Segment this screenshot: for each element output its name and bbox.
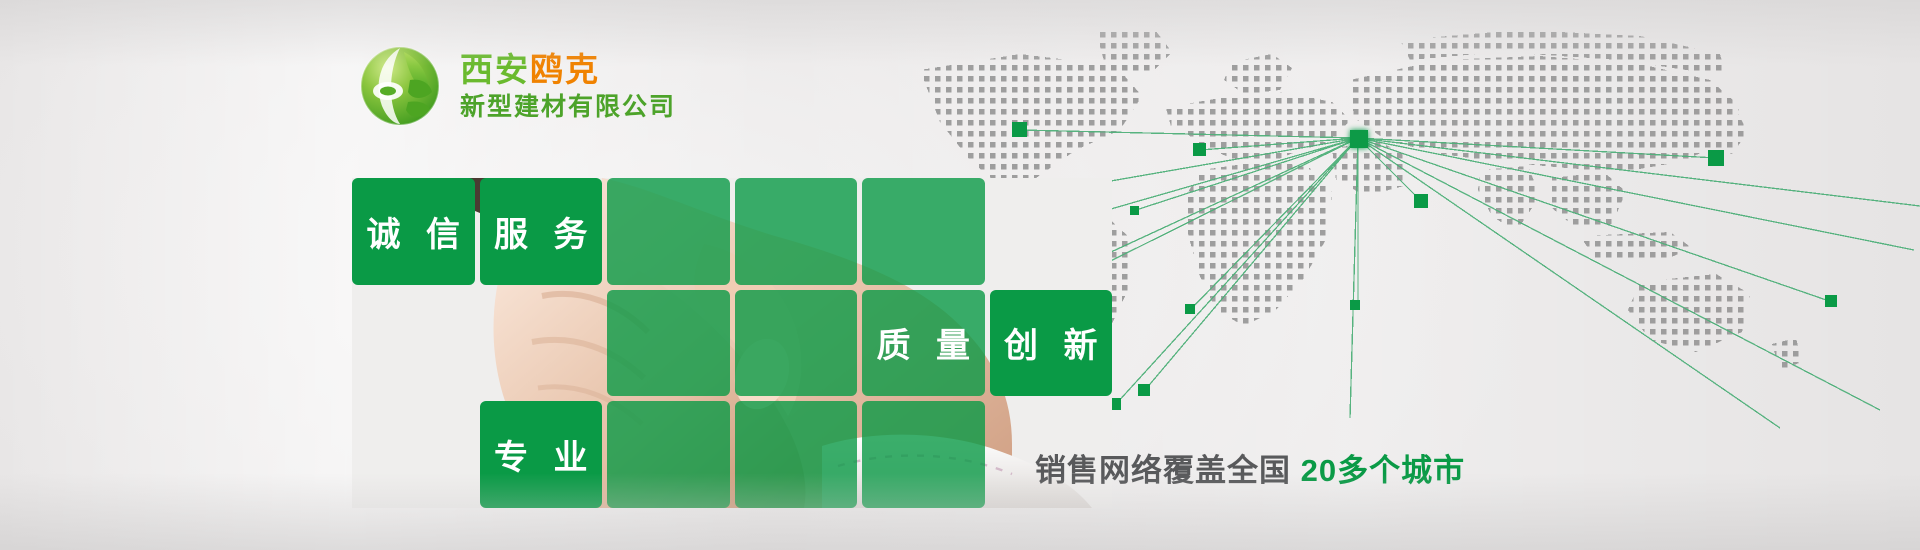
tagline: 销售网络覆盖全国 20多个城市	[1035, 445, 1465, 490]
mosaic-cell-7	[480, 290, 603, 397]
mosaic-cell-9	[735, 290, 858, 397]
tagline-prefix: 销售网络覆盖全国	[1035, 453, 1291, 488]
mosaic-cell-3	[735, 178, 858, 285]
company-name-prefix: 西安	[460, 51, 530, 88]
value-tile-0[interactable]: 诚 信	[352, 178, 475, 285]
value-tile-10[interactable]: 质 量	[862, 290, 985, 397]
value-tile-1[interactable]: 服 务	[480, 178, 603, 285]
company-name-line-1: 西安鸥克	[460, 51, 676, 89]
company-name-accent: 鸥克	[530, 51, 600, 88]
company-name: 西安鸥克 新型建材有限公司	[460, 51, 676, 122]
mosaic-cell-8	[607, 290, 730, 397]
promo-banner: 西安鸥克 新型建材有限公司	[0, 0, 1920, 550]
value-tile-mosaic: 诚 信服 务质 量创 新专 业	[352, 178, 1112, 508]
mosaic-cell-14	[607, 401, 730, 508]
company-name-line-2: 新型建材有限公司	[460, 93, 676, 122]
green-globe-logo-icon	[358, 44, 442, 128]
mosaic-cell-5	[990, 178, 1113, 285]
value-tile-13[interactable]: 专 业	[480, 401, 603, 508]
mosaic-cell-2	[607, 178, 730, 285]
mosaic-cell-4	[862, 178, 985, 285]
value-tile-11[interactable]: 创 新	[990, 290, 1113, 397]
tile-grid: 诚 信服 务质 量创 新专 业	[352, 178, 1112, 508]
mosaic-cell-6	[352, 290, 475, 397]
mosaic-cell-16	[862, 401, 985, 508]
company-logo[interactable]: 西安鸥克 新型建材有限公司	[358, 44, 676, 128]
mosaic-cell-12	[352, 401, 475, 508]
mosaic-cell-15	[735, 401, 858, 508]
tagline-highlight: 20多个城市	[1301, 453, 1465, 488]
